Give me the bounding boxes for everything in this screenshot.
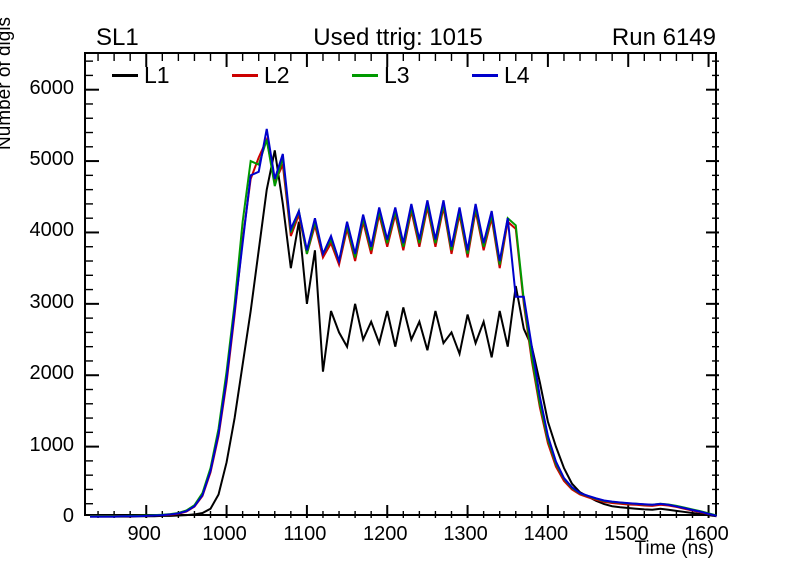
y-axis-title: Number of digis [0, 0, 16, 150]
x-tick-label-1400: 1400 [524, 524, 569, 544]
x-tick-label-1100: 1100 [283, 524, 326, 544]
legend-swatch-l1 [112, 74, 138, 77]
header-right-run-label: Run 6149 [0, 24, 716, 52]
x-tick-label-1600: 1600 [684, 524, 729, 544]
y-tick-label-5000: 5000 [0, 149, 74, 169]
legend-entry-l1[interactable]: L1 [112, 64, 232, 87]
legend-label-l3: L3 [384, 64, 410, 87]
axis-ticks [86, 54, 719, 518]
y-tick-label-4000: 4000 [0, 220, 74, 240]
x-tick-label-900: 900 [128, 524, 161, 544]
legend-label-l1: L1 [144, 64, 170, 87]
legend-label-l4: L4 [504, 64, 530, 87]
legend-entry-l3[interactable]: L3 [352, 64, 472, 87]
series-line-l4 [90, 129, 717, 517]
y-tick-label-1000: 1000 [0, 435, 74, 455]
series-line-l3 [90, 140, 717, 517]
x-tick-label-1500: 1500 [604, 524, 649, 544]
root-canvas: SL1 Used ttrig: 1015 Run 6149 Number of … [0, 0, 796, 572]
legend-label-l2: L2 [264, 64, 290, 87]
legend-swatch-l3 [352, 74, 378, 77]
y-tick-label-0: 0 [0, 506, 74, 526]
plot-area [86, 54, 719, 518]
chart-legend: L1L2L3L4 [112, 60, 592, 90]
x-tick-label-1000: 1000 [202, 524, 247, 544]
y-tick-label-3000: 3000 [0, 292, 74, 312]
plot-frame [84, 52, 717, 516]
y-tick-label-2000: 2000 [0, 363, 74, 383]
legend-swatch-l4 [472, 74, 498, 77]
x-tick-label-1200: 1200 [363, 524, 408, 544]
y-tick-label-6000: 6000 [0, 78, 74, 98]
series-line-l1 [90, 150, 717, 516]
legend-entry-l2[interactable]: L2 [232, 64, 352, 87]
legend-swatch-l2 [232, 74, 258, 77]
legend-entry-l4[interactable]: L4 [472, 64, 592, 87]
x-tick-label-1300: 1300 [443, 524, 488, 544]
series-line-l2 [90, 140, 717, 517]
